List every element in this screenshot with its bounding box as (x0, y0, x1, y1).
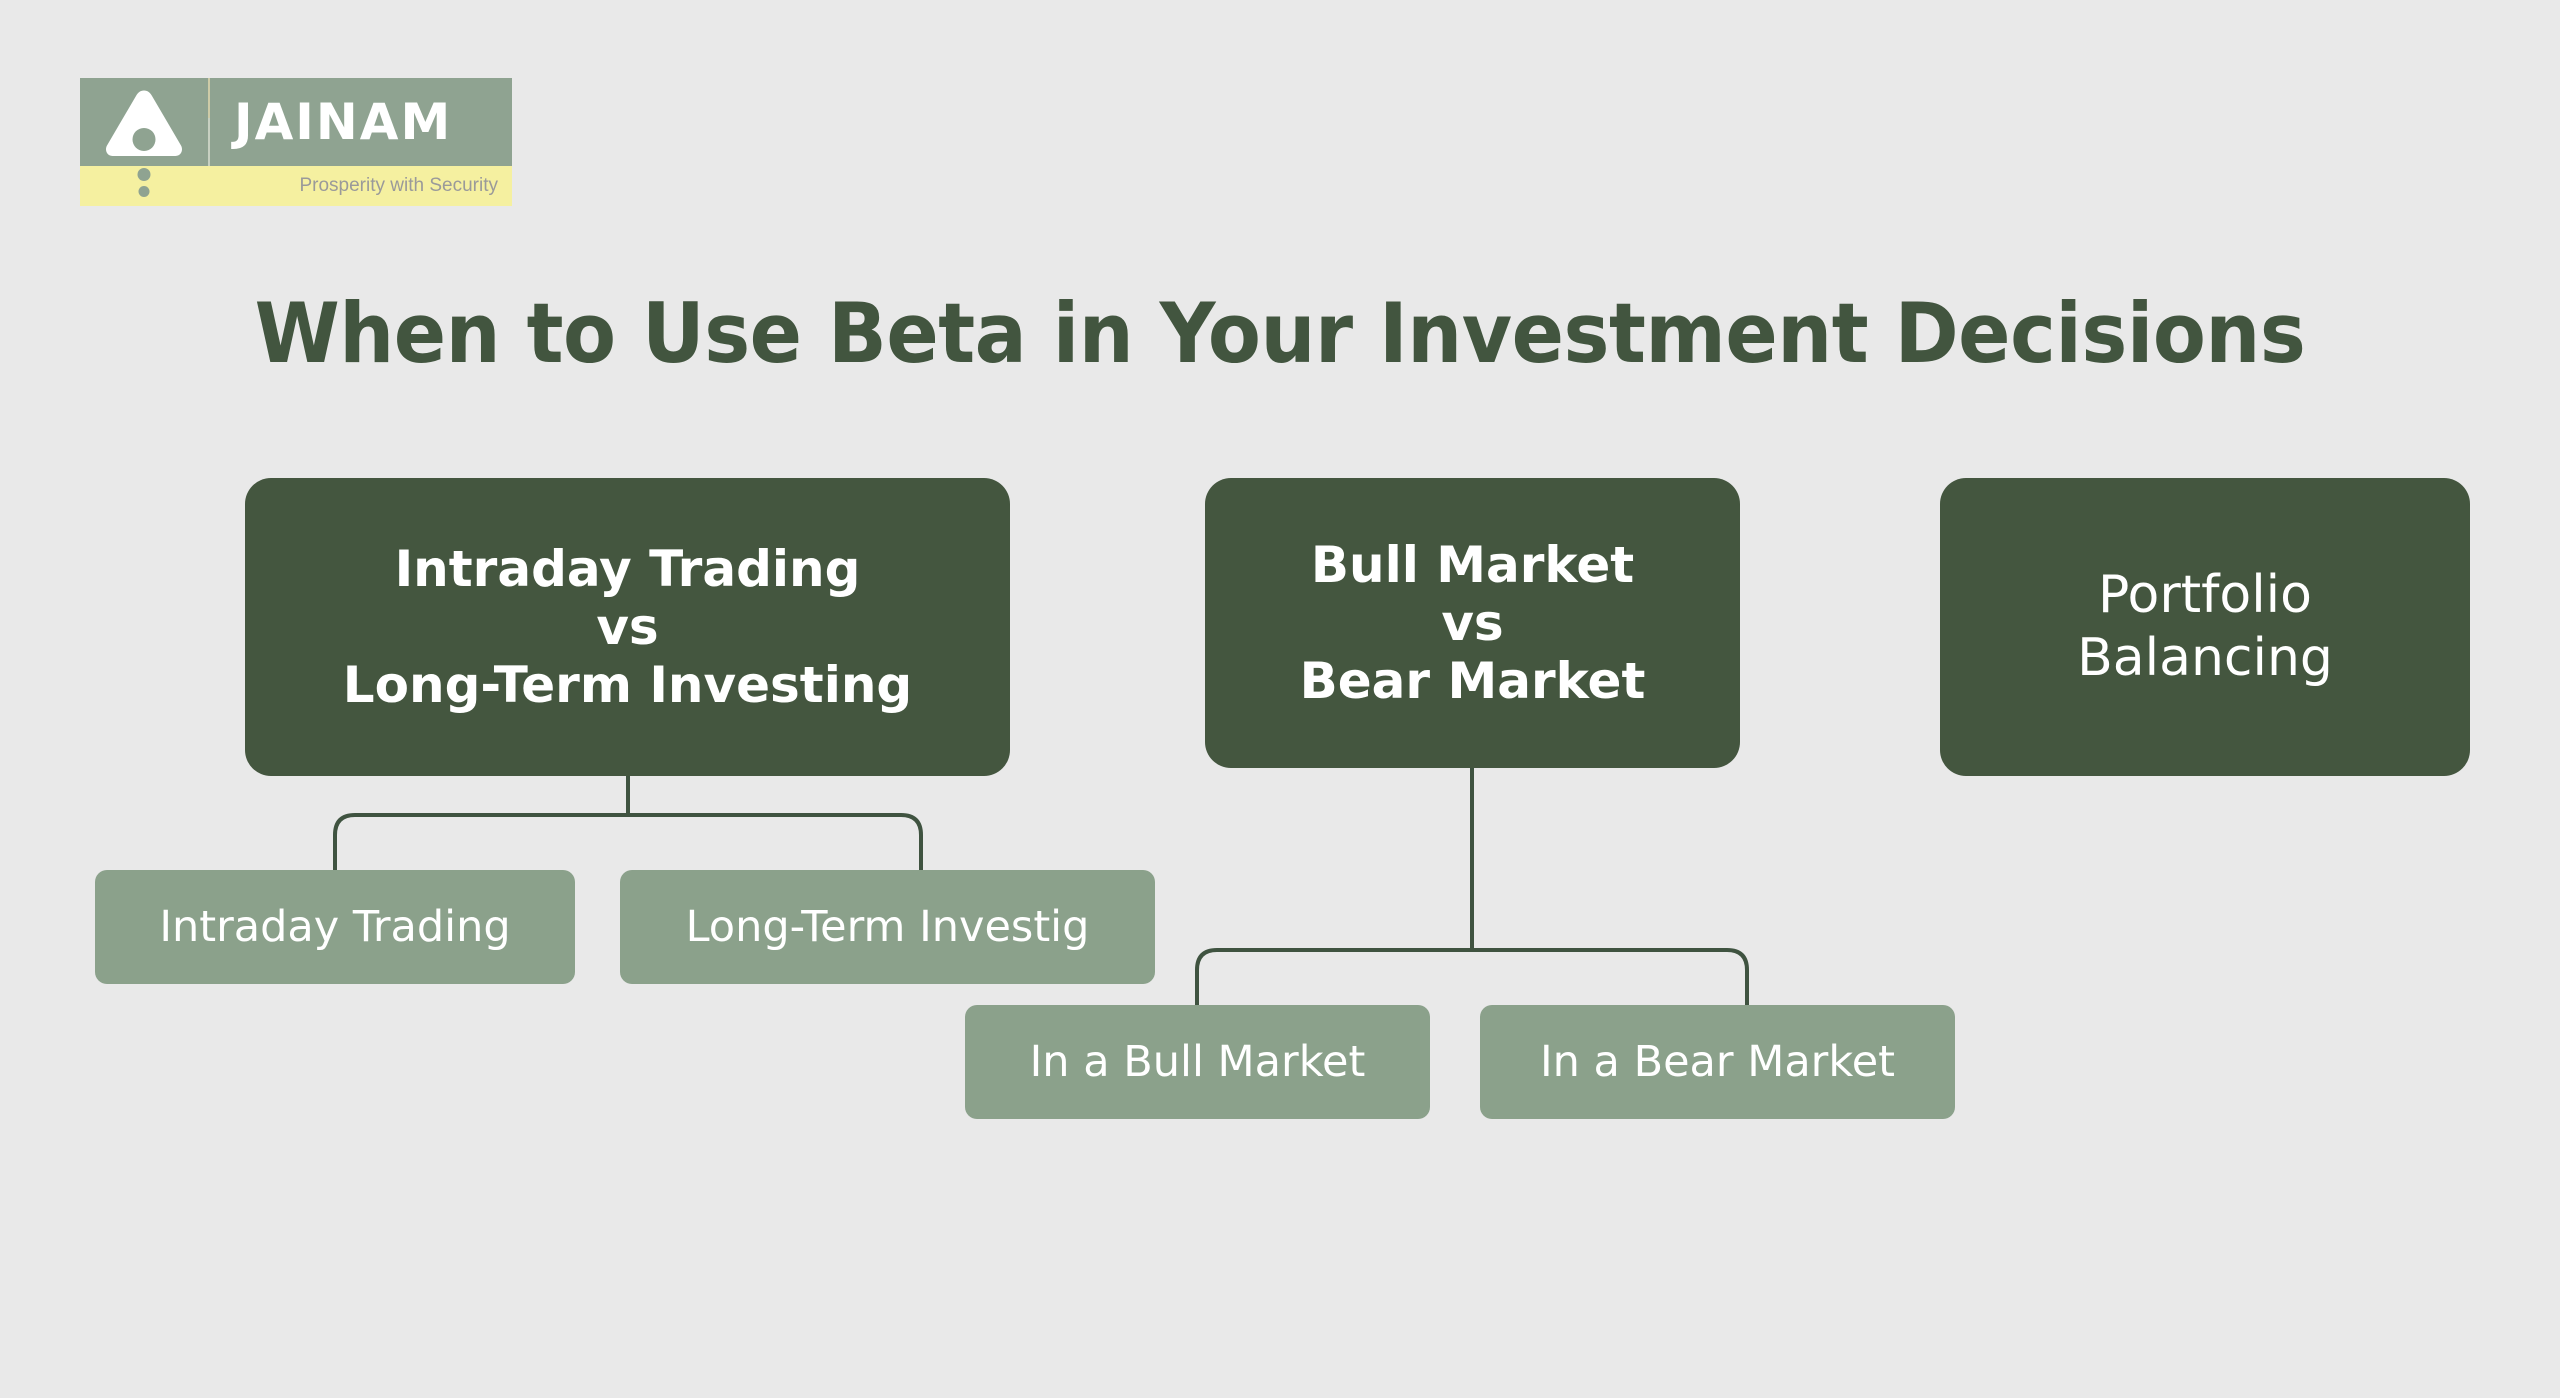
node-line: Long-Term Investing (343, 656, 912, 714)
node-line: Intraday Trading (395, 540, 861, 598)
node-intraday-trading[interactable]: Intraday Trading (95, 870, 575, 984)
node-line: vs (596, 598, 658, 656)
logo-wordmark: JAINAM (208, 93, 452, 151)
connector-intraday-bar (335, 815, 921, 870)
triangle-with-dot-icon (103, 87, 185, 159)
logo-divider (208, 78, 210, 118)
node-bull-vs-bear[interactable]: Bull Market vs Bear Market (1205, 478, 1740, 768)
node-in-a-bear-market[interactable]: In a Bear Market (1480, 1005, 1955, 1119)
logo-dot-large (138, 168, 151, 181)
logo-wordmark-area: JAINAM (208, 78, 512, 166)
logo-tagline-area: Prosperity with Security (208, 166, 512, 206)
logo-bottom-band: Prosperity with Security (80, 166, 512, 206)
logo-mark-area (80, 78, 208, 166)
node-long-term-investing[interactable]: Long-Term Investig (620, 870, 1155, 984)
logo-dots-icon (138, 168, 151, 197)
logo-dots-area (80, 166, 208, 206)
node-line: Bear Market (1300, 652, 1646, 710)
node-line: Portfolio (2098, 564, 2312, 627)
node-intraday-vs-longterm[interactable]: Intraday Trading vs Long-Term Investing (245, 478, 1010, 776)
logo-tagline: Prosperity with Security (208, 175, 512, 197)
logo-top-band: JAINAM (80, 78, 512, 166)
jainam-logo: JAINAM Prosperity with Security (80, 78, 512, 206)
page-title: When to Use Beta in Your Investment Deci… (90, 285, 2471, 382)
node-line: Balancing (2077, 627, 2333, 690)
node-line: vs (1441, 594, 1503, 652)
node-line: Bull Market (1311, 536, 1634, 594)
logo-dot-small (139, 186, 150, 197)
node-in-a-bull-market[interactable]: In a Bull Market (965, 1005, 1430, 1119)
connector-market-bar (1197, 950, 1747, 1005)
node-portfolio-balancing[interactable]: Portfolio Balancing (1940, 478, 2470, 776)
